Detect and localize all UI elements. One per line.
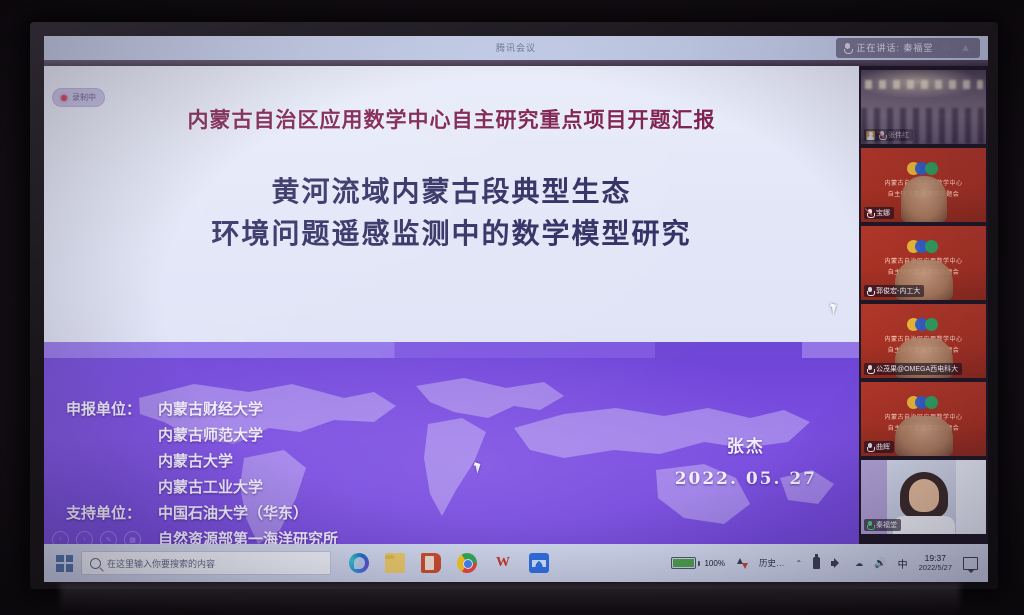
org-row: 申报单位： 内蒙古工业大学 (66, 474, 338, 500)
clock[interactable]: 19:37 2022/5/27 (919, 553, 952, 573)
participant-name: 秦福堂 (876, 520, 897, 530)
show-hidden-icons-icon[interactable]: ⌃ (795, 559, 802, 568)
volume-icon[interactable]: 🔊 (874, 558, 886, 569)
participant-tile[interactable]: 内蒙古自治区应用数学中心 自主研究重点项目开题会 公茂果@OMEGA西电科大 (861, 304, 986, 378)
arrow-up-icon[interactable]: ▲ (960, 36, 972, 60)
logo-icon (907, 240, 941, 253)
org-row: 申报单位： 内蒙古师范大学 (66, 422, 338, 448)
monitor-stand (60, 583, 960, 613)
explorer-icon[interactable] (385, 553, 405, 573)
active-speaker-indicator[interactable]: 正在讲话: 秦福堂 ‹‹ ▲ (836, 38, 980, 58)
mic-active-icon (866, 365, 873, 374)
participant-label: 宝娜 (864, 207, 894, 219)
mic-muted-icon (866, 209, 873, 218)
org-row: 申报单位： 内蒙古大学 (66, 448, 338, 474)
participant-tile-active-speaker[interactable]: 秦福堂 (861, 460, 986, 534)
usb-icon[interactable] (813, 557, 820, 569)
org-value: 内蒙古财经大学 (158, 396, 263, 422)
participant-name: 宝娜 (876, 208, 890, 218)
chevrons-left-icon[interactable]: ‹‹ (942, 36, 951, 60)
participant-tile[interactable]: 张伟红 (861, 70, 986, 144)
presenter-block: 张杰 2022. 05. 27 (675, 432, 817, 489)
participant-name: 郭俊宏-内工大 (876, 286, 920, 296)
record-dot-icon (61, 95, 67, 101)
history-label[interactable]: 历史… (759, 557, 785, 569)
battery-tip (698, 561, 700, 566)
ime-indicator[interactable]: 中 (898, 556, 908, 571)
speaker-icon[interactable] (831, 558, 844, 569)
participant-label: 秦福堂 (864, 519, 901, 531)
shared-screen-area: 录制中 内蒙古自治区应用数学中心自主研究重点项目开题汇报 黄河流域内蒙古段典型生… (44, 66, 859, 556)
active-speaker-label: 正在讲话: 秦福堂 (856, 36, 933, 60)
participant-video-strip[interactable]: 张伟红 内蒙古自治区应用数学中心 自主研究重点项目开题会 宝娜 内蒙古自治区应用… (859, 66, 988, 556)
recording-label: 录制中 (72, 92, 96, 103)
edge-icon[interactable] (349, 553, 369, 573)
logo-icon (907, 396, 941, 409)
slide-subtitle: 内蒙古自治区应用数学中心自主研究重点项目开题汇报 (44, 104, 859, 134)
mic-unmuted-icon (866, 521, 873, 530)
taskbar-app-buttons[interactable]: W (349, 553, 549, 573)
microphone-icon (844, 43, 851, 53)
applicant-organizations: 申报单位： 内蒙古财经大学 申报单位： 内蒙古师范大学 申报单位： 内蒙古大学 … (66, 396, 338, 552)
windows-start-icon[interactable] (56, 555, 73, 572)
system-tray[interactable]: 100% 历史… ⌃ ☁ 🔊 中 19:37 2022/5/27 (671, 553, 982, 573)
wps-icon[interactable]: W (493, 553, 513, 573)
org-value: 内蒙古师范大学 (158, 422, 263, 448)
participant-shirt (893, 516, 955, 534)
slide-title-line-2: 环境问题遥感监测中的数学模型研究 (44, 213, 859, 255)
participant-tile[interactable]: 内蒙古自治区应用数学中心 自主研究重点项目开题会 曲辉 (861, 382, 986, 456)
logo-icon (907, 318, 941, 331)
mic-muted-icon (878, 131, 885, 140)
network-updown-icon[interactable] (736, 558, 748, 569)
presentation-date: 2022. 05. 27 (675, 469, 817, 489)
search-input[interactable]: 在这里输入你要搜索的内容 (81, 551, 331, 575)
battery-icon (671, 557, 696, 569)
participant-label: 曲辉 (864, 441, 894, 453)
slide-upper-panel: 录制中 内蒙古自治区应用数学中心自主研究重点项目开题汇报 黄河流域内蒙古段典型生… (44, 66, 859, 342)
clock-date: 2022/5/27 (919, 563, 952, 573)
slide-title: 黄河流域内蒙古段典型生态 环境问题遥感监测中的数学模型研究 (44, 171, 859, 255)
search-icon (90, 558, 101, 569)
participant-name: 曲辉 (876, 442, 890, 452)
org-value: 内蒙古工业大学 (158, 474, 263, 500)
screen-content: 腾讯会议 正在讲话: 秦福堂 ‹‹ ▲ 录制中 内蒙古自治区应用数学中心自主研究… (44, 36, 988, 582)
participant-label: 郭俊宏-内工大 (864, 285, 924, 297)
clock-time: 19:37 (919, 553, 952, 563)
windows-taskbar[interactable]: 在这里输入你要搜索的内容 W 100% 历史… ⌃ ☁ 🔊 中 (44, 544, 988, 582)
tencent-meeting-icon[interactable] (529, 553, 549, 573)
meeting-title-bar: 腾讯会议 正在讲话: 秦福堂 ‹‹ ▲ (44, 36, 988, 60)
participant-tile[interactable]: 内蒙古自治区应用数学中心 自主研究重点项目开题会 郭俊宏-内工大 (861, 226, 986, 300)
org-label: 申报单位： (66, 396, 158, 422)
org-value: 内蒙古大学 (158, 448, 233, 474)
participant-name: 张伟红 (888, 130, 909, 140)
presenter-name: 张杰 (675, 432, 817, 457)
org-row: 申报单位： 内蒙古财经大学 (66, 396, 338, 422)
participant-face (901, 176, 947, 222)
participant-name: 公茂果@OMEGA西电科大 (876, 364, 958, 374)
battery-percent: 100% (704, 559, 724, 568)
participant-label: 张伟红 (864, 129, 913, 141)
mouse-cursor-pointer (474, 462, 481, 468)
logo-icon (907, 162, 941, 175)
mic-active-icon (866, 443, 873, 452)
mouse-cursor-slide (830, 303, 837, 309)
mic-active-icon (866, 287, 873, 296)
avatar (866, 131, 875, 140)
notification-center-icon[interactable] (963, 557, 978, 570)
participant-face (909, 479, 939, 512)
chrome-icon[interactable] (457, 553, 477, 573)
photographed-monitor-scene: 腾讯会议 正在讲话: 秦福堂 ‹‹ ▲ 录制中 内蒙古自治区应用数学中心自主研究… (0, 0, 1024, 615)
slide-title-line-1: 黄河流域内蒙古段典型生态 (44, 171, 859, 213)
org-label: 支持单位： (66, 500, 158, 526)
onedrive-icon[interactable]: ☁ (855, 559, 863, 568)
office-icon[interactable] (421, 553, 441, 573)
search-placeholder: 在这里输入你要搜索的内容 (107, 557, 215, 570)
slide-lower-panel: 申报单位： 内蒙古财经大学 申报单位： 内蒙古师范大学 申报单位： 内蒙古大学 … (44, 358, 859, 556)
org-row: 支持单位： 中国石油大学（华东） (66, 500, 338, 526)
participant-tile[interactable]: 内蒙古自治区应用数学中心 自主研究重点项目开题会 宝娜 (861, 148, 986, 222)
slide-color-band (44, 342, 859, 358)
battery-indicator[interactable]: 100% (671, 557, 724, 569)
org-value: 中国石油大学（华东） (158, 500, 308, 526)
participant-label: 公茂果@OMEGA西电科大 (864, 363, 962, 375)
participant-face (895, 416, 953, 456)
meeting-window-title: 腾讯会议 (496, 43, 536, 53)
